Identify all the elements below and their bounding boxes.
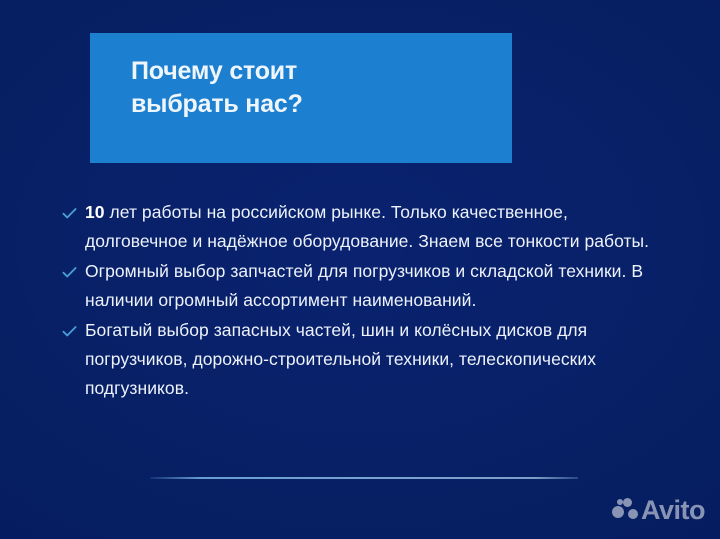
check-icon (62, 258, 85, 287)
check-icon (62, 199, 85, 228)
check-icon (62, 317, 85, 346)
avito-logo-icon (612, 497, 640, 523)
list-item-text: Огромный выбор запчастей для погрузчиков… (85, 257, 674, 315)
list-item-text: Богатый выбор запасных частей, шин и кол… (85, 316, 674, 403)
avito-watermark: Avito (612, 497, 705, 523)
list-item-lead: 10 (85, 202, 105, 222)
header-banner: Почему стоит выбрать нас? (90, 33, 512, 163)
list-item: Огромный выбор запчастей для погрузчиков… (62, 257, 674, 315)
list-item: 10 лет работы на российском рынке. Тольк… (62, 198, 674, 256)
presentation-slide: Почему стоит выбрать нас? 10 лет работы … (0, 0, 720, 539)
avito-wordmark: Avito (641, 497, 705, 523)
list-item-body: Богатый выбор запасных частей, шин и кол… (85, 320, 596, 398)
page-title: Почему стоит выбрать нас? (131, 55, 512, 121)
list-item-body: Огромный выбор запчастей для погрузчиков… (85, 261, 643, 310)
list-item-text: 10 лет работы на российском рынке. Тольк… (85, 198, 674, 256)
divider (150, 477, 578, 479)
benefits-list: 10 лет работы на российском рынке. Тольк… (62, 198, 674, 404)
list-item-body: лет работы на российском рынке. Только к… (85, 202, 649, 251)
list-item: Богатый выбор запасных частей, шин и кол… (62, 316, 674, 403)
